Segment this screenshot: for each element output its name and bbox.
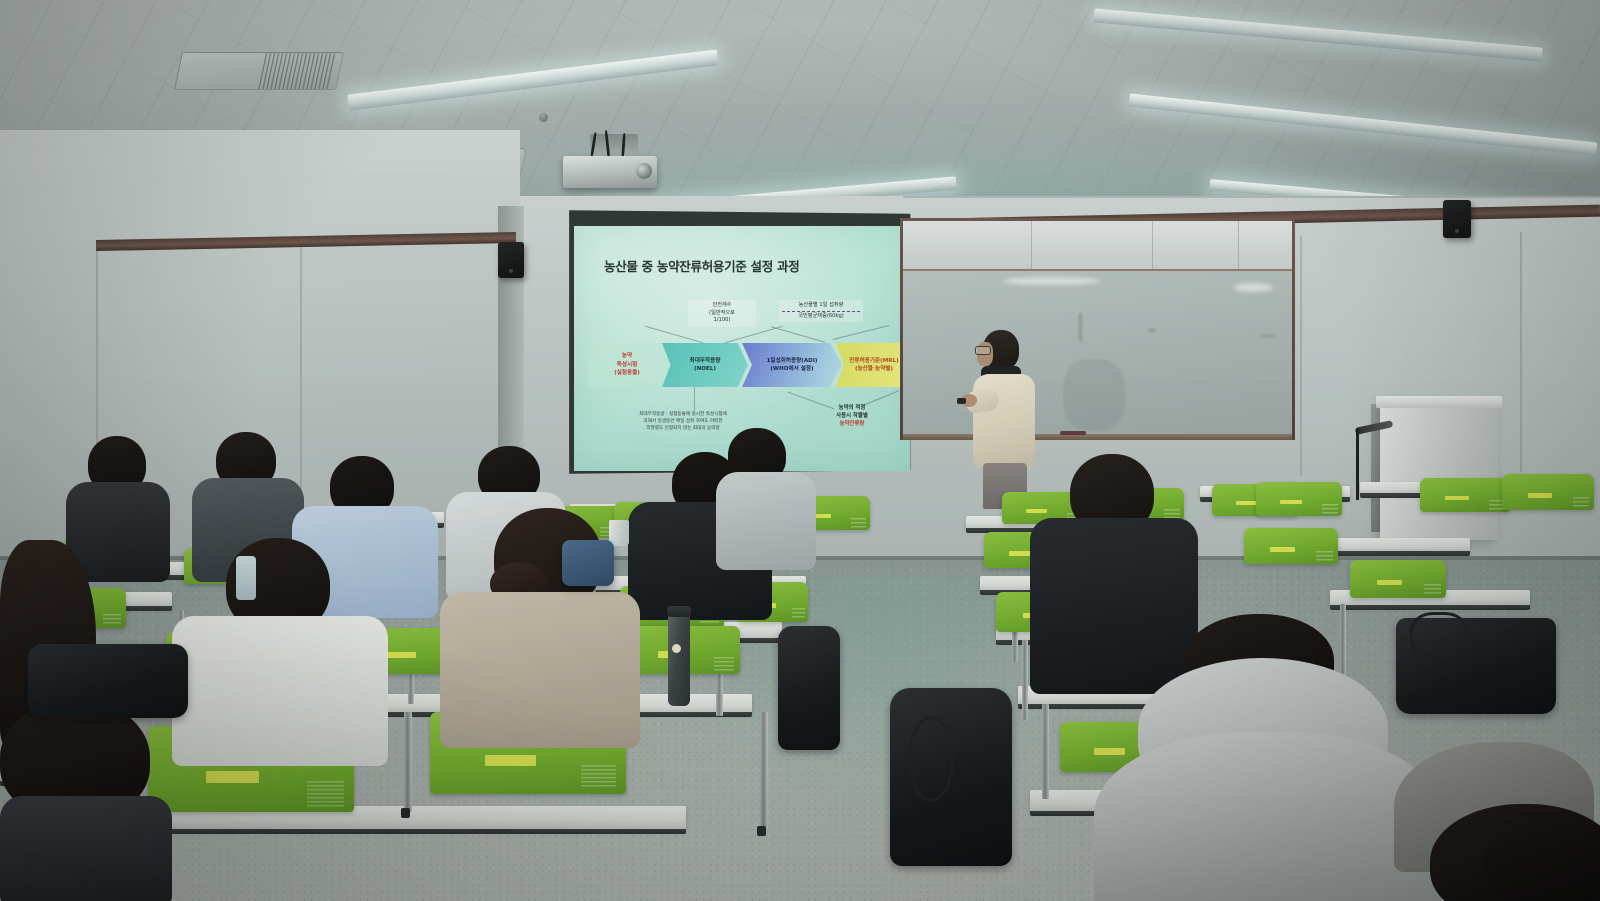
chair-notch: [851, 518, 866, 528]
whiteboard-mark-2: [1149, 329, 1155, 332]
chair-notch: [714, 657, 735, 671]
wall-seam-5: [903, 196, 1600, 198]
slide-safety-factor-box: 안전계수 (일반적으로 1/100): [688, 300, 756, 327]
audience-head: [1484, 810, 1600, 901]
note-right-line1: 농약의 적정: [839, 405, 866, 411]
flow1-line2: (NOEL): [694, 366, 716, 372]
safety-factor-line1: 안전계수: [712, 302, 731, 308]
intake-numerator: 농산물별 1일 섭취량: [799, 302, 844, 308]
note-left-line3: 악영향도 인정되지 않는 최대의 농약량: [646, 426, 719, 431]
audience-torso: [440, 592, 640, 748]
audience-member: [1484, 810, 1600, 901]
slide-intake-box: 농산물별 1일 섭취량 국민평균체중(60kg): [779, 300, 863, 322]
ceiling-projector: [563, 156, 657, 188]
chair-notch: [581, 765, 616, 790]
backpack-strap: [1410, 612, 1468, 658]
chair-notch: [1316, 551, 1333, 562]
panel-seam-3: [1238, 221, 1239, 269]
backpack: [562, 540, 614, 586]
whiteboard-marker-icon: [1060, 431, 1086, 435]
audience-member: [0, 700, 170, 901]
flow0-line2: 독성시험: [617, 362, 638, 368]
bottle-logo-icon: [672, 644, 681, 653]
flow2-line1: 1일섭취허용량(ADI): [767, 358, 818, 364]
chair[interactable]: [1420, 478, 1510, 512]
chair[interactable]: [1502, 474, 1594, 510]
slide-flow-step-3: 잔류허용기준(MRL) (농산물·농약별): [836, 343, 910, 387]
backpack-strap: [908, 716, 954, 802]
slide-note-leader: [694, 387, 695, 411]
vent-grill-icon: [258, 53, 336, 89]
chair-notch: [307, 781, 344, 807]
chair-notch: [1573, 497, 1590, 508]
safety-factor-line3: 1/100): [714, 317, 731, 323]
projector-lens-icon: [636, 163, 652, 179]
sprinkler-head-icon-2: [539, 113, 548, 122]
note-right-line2: 사용시 작물별: [836, 413, 868, 419]
water-bottle-tumbler[interactable]: [668, 614, 690, 706]
chair-notch: [792, 608, 805, 620]
whiteboard-upper-panel: [903, 221, 1292, 271]
desk-edge: [96, 829, 686, 834]
chair[interactable]: [1256, 482, 1342, 516]
note-right-line3: 농약잔류량: [840, 421, 865, 427]
whiteboard-glare: [1003, 277, 1101, 285]
flow3-line2: (농산물·농약별): [855, 366, 893, 372]
backpack: [890, 688, 1012, 866]
desk-leg: [404, 712, 412, 812]
slide-note-right: 농약의 적정 사용시 작물별 농약잔류량: [802, 404, 902, 428]
wall-seam-4: [1520, 232, 1522, 472]
whiteboard: [903, 271, 1292, 437]
note-left-line1: 최대무작용량 : 실험동물에 실시한 독성시험에: [639, 412, 727, 417]
projector-mount: [590, 134, 638, 158]
audience-torso: [172, 616, 388, 766]
wall-seam-3: [1300, 236, 1302, 476]
hvac-ceiling-vent: [174, 52, 344, 90]
flow1-line1: 최대무작용량: [690, 358, 721, 364]
audience-member: [716, 428, 816, 558]
slide-flow-step-2: 1일섭취허용량(ADI) (WHO에서 설정): [742, 343, 842, 387]
whiteboard-marker-tray: [903, 434, 1292, 440]
wall-speaker-right: [1443, 200, 1471, 238]
chair[interactable]: [1244, 528, 1338, 564]
desk-edge: [1330, 605, 1530, 610]
audience-torso: [0, 796, 172, 901]
flow0-line3: (실험동물): [614, 370, 640, 376]
desk-leg-foot: [757, 826, 766, 836]
flow0-line1: 농약: [622, 353, 632, 359]
whiteboard-smudge: [1063, 359, 1125, 431]
hoodie-torso: [1094, 732, 1442, 901]
panel-seam: [1031, 221, 1032, 269]
wall-speaker-left: [498, 242, 524, 278]
presentation-clicker-icon: [957, 398, 966, 404]
backpack: [778, 626, 840, 750]
bottle-cap-icon: [667, 606, 691, 617]
panel-seam-2: [1152, 221, 1153, 269]
desk-leg-foot: [401, 808, 410, 818]
flow2-line2: (WHO에서 설정): [770, 366, 813, 372]
slide-flow-step-0: 농약 독성시험 (실험동물): [590, 343, 664, 387]
chair-notch: [1322, 504, 1337, 514]
audience-torso: [716, 472, 816, 570]
whiteboard-mark-3: [1261, 335, 1275, 337]
safety-factor-line2: (일반적으로: [709, 310, 735, 316]
slide-flow-step-1: 최대무작용량 (NOEL): [662, 343, 748, 387]
hair-clip-icon: [236, 556, 256, 600]
backpack: [1396, 618, 1556, 714]
lectern-podium: [1380, 400, 1498, 540]
backpack: [28, 644, 188, 718]
chair-notch: [1424, 584, 1441, 595]
lecture-hall-scene: 농산물 중 농약잔류허용기준 설정 과정 안전계수 (일반적으로 1/100) …: [0, 0, 1600, 901]
flow3-line1: 잔류허용기준(MRL): [849, 358, 898, 364]
audience-member: [172, 538, 388, 738]
intake-denominator: 국민평균체중(60kg): [782, 311, 860, 321]
whiteboard-glare-2: [1233, 283, 1273, 292]
desk-leg: [760, 712, 768, 830]
podium-desktop: [1376, 396, 1502, 408]
desk-leg: [1042, 704, 1049, 799]
note-left-line2: 의해서 일생동안 매일 섭취 하여도 어떠한: [643, 419, 722, 424]
glasses-icon: [975, 346, 991, 355]
whiteboard-mark: [1079, 313, 1082, 341]
slide-title: 농산물 중 농약잔류허용기준 설정 과정: [604, 256, 799, 275]
chair[interactable]: [1350, 560, 1446, 598]
